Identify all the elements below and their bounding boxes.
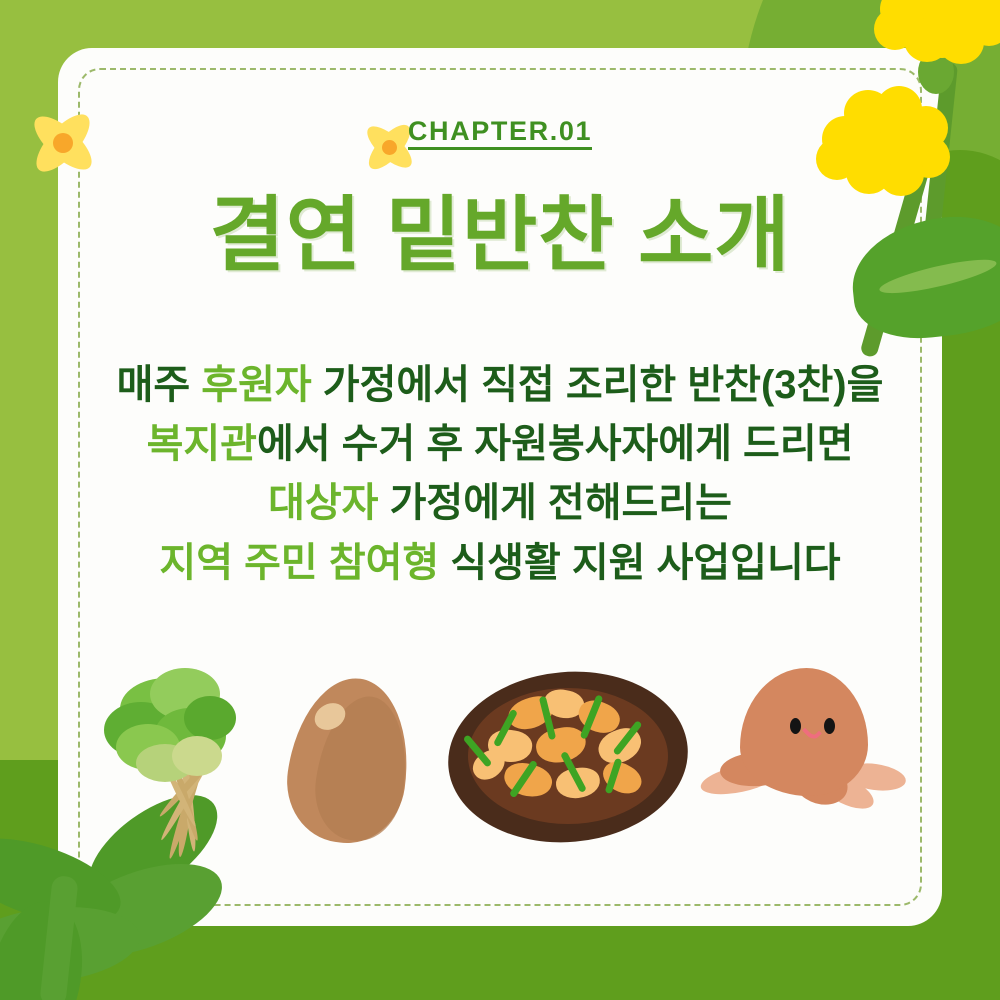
body-highlight-text: 복지관 bbox=[147, 422, 257, 466]
chapter-row: CHAPTER.01 bbox=[0, 118, 1000, 150]
body-text: 가정에서 직접 조리한 반찬(3찬)을 bbox=[312, 363, 884, 407]
body-highlight-text: 지역 주민 참여형 bbox=[159, 541, 439, 585]
body-line: 매주 후원자 가정에서 직접 조리한 반찬(3찬)을 bbox=[0, 356, 1000, 415]
poster-canvas: CHAPTER.01 결연 밑반찬 소개 매주 후원자 가정에서 직접 조리한 … bbox=[0, 0, 1000, 1000]
body-text: 가정에게 전해드리는 bbox=[378, 481, 731, 525]
chapter-label: CHAPTER.01 bbox=[408, 118, 592, 150]
body-highlight-text: 대상자 bbox=[268, 481, 378, 525]
brown-egg-illustration bbox=[290, 678, 408, 843]
body-line: 대상자 가정에게 전해드리는 bbox=[0, 474, 1000, 533]
body-text: 에서 수거 후 자원봉사자에게 드리면 bbox=[257, 422, 853, 466]
illustration-row bbox=[58, 650, 942, 880]
stir-fried-dish-illustration bbox=[448, 672, 688, 842]
body-line: 복지관에서 수거 후 자원봉사자에게 드리면 bbox=[0, 415, 1000, 474]
body-paragraph: 매주 후원자 가정에서 직접 조리한 반찬(3찬)을복지관에서 수거 후 자원봉… bbox=[0, 356, 1000, 593]
page-title: 결연 밑반찬 소개 bbox=[0, 192, 1000, 281]
body-text: 매주 bbox=[117, 363, 202, 407]
leafy-greens-bundle-illustration bbox=[98, 662, 298, 862]
body-highlight-text: 후원자 bbox=[201, 363, 311, 407]
octopus-illustration bbox=[698, 668, 908, 848]
body-line: 지역 주민 참여형 식생활 지원 사업입니다 bbox=[0, 534, 1000, 593]
body-text: 식생활 지원 사업입니다 bbox=[439, 541, 840, 585]
yellow-blossom-top-right-outer bbox=[872, 0, 1000, 78]
